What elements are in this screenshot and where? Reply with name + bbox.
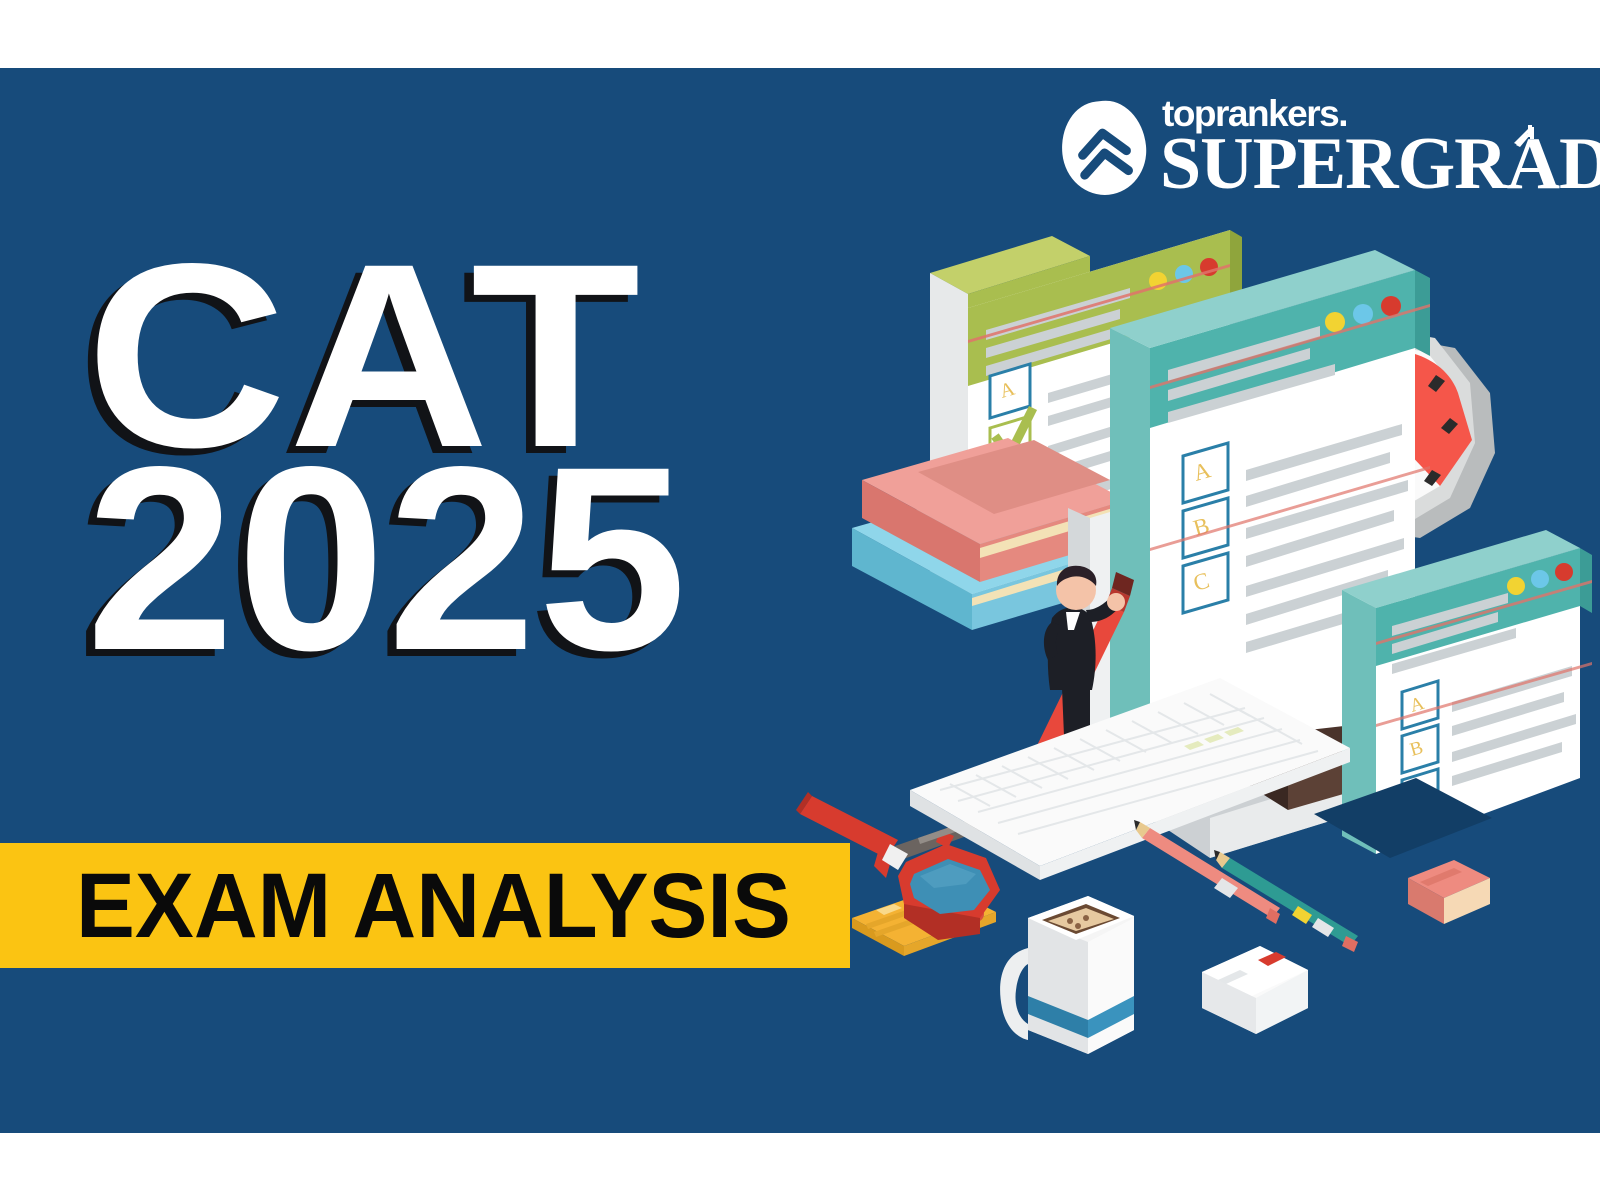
poster-canvas: A C [0,0,1600,1200]
page-title: CAT 2025 [86,243,906,672]
headline-line-year: 2025 [86,446,922,671]
arrow-up-right-icon [1510,123,1536,149]
exam-analysis-banner: EXAM ANALYSIS [0,843,850,968]
double-chevron-up-icon [1057,97,1150,199]
coffee-mug [1000,896,1134,1054]
computer-mouse [1202,946,1308,1034]
poster-background: A C [0,68,1600,1133]
banner-label: EXAM ANALYSIS [76,860,791,952]
brand-logo: toprankers. SUPERGRADS [1062,95,1532,205]
pencil-teal [1214,850,1358,952]
eraser [1408,860,1490,924]
